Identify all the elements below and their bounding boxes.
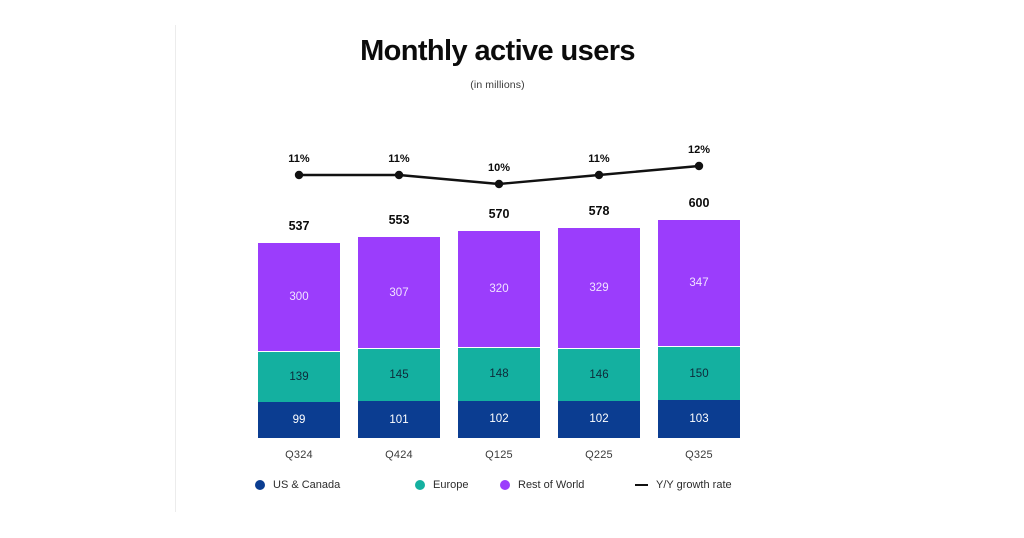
bar-segment-us-canada[interactable]: 103 <box>658 400 740 438</box>
growth-rate-point-q325[interactable] <box>695 162 703 170</box>
growth-rate-value-q325: 12% <box>688 144 710 156</box>
bar-segment-rest-of-world[interactable]: 307 <box>358 236 440 348</box>
growth-rate-value-q324: 11% <box>288 153 309 165</box>
growth-rate-point-q225[interactable] <box>595 171 603 179</box>
bar-segment-europe[interactable]: 139 <box>258 351 340 402</box>
bar-segment-europe[interactable]: 150 <box>658 346 740 401</box>
bar-stack: 102148320 <box>458 230 540 438</box>
legend-line-icon <box>635 484 648 486</box>
x-axis-label-q424: Q424 <box>358 449 440 461</box>
x-axis-label-q125: Q125 <box>458 449 540 461</box>
bar-segment-rest-of-world[interactable]: 300 <box>258 242 340 351</box>
bar-segment-rest-of-world[interactable]: 347 <box>658 219 740 346</box>
bar-segment-us-canada[interactable]: 102 <box>458 401 540 438</box>
x-axis-label-q325: Q325 <box>658 449 740 461</box>
legend-dot-icon <box>415 480 425 490</box>
slide-canvas: Monthly active users (in millions) 11%11… <box>0 0 1024 538</box>
growth-rate-point-q424[interactable] <box>395 171 403 179</box>
legend-label: Europe <box>433 479 468 491</box>
bar-stack: 103150347 <box>658 219 740 438</box>
growth-rate-value-q125: 10% <box>488 162 510 174</box>
x-axis-label-q225: Q225 <box>558 449 640 461</box>
bar-segment-us-canada[interactable]: 99 <box>258 402 340 438</box>
bar-segment-rest-of-world[interactable]: 320 <box>458 230 540 347</box>
bar-total-label: 553 <box>358 213 440 227</box>
bar-total-label: 537 <box>258 219 340 233</box>
bar-stack: 102146329 <box>558 227 640 438</box>
growth-rate-value-q424: 11% <box>388 153 409 165</box>
legend-item-rest-of-world[interactable]: Rest of World <box>500 479 584 491</box>
bar-total-label: 578 <box>558 204 640 218</box>
bar-segment-us-canada[interactable]: 102 <box>558 401 640 438</box>
bar-total-label: 570 <box>458 207 540 221</box>
bar-segment-europe[interactable]: 146 <box>558 348 640 401</box>
legend-item-us-canada[interactable]: US & Canada <box>255 479 340 491</box>
bar-segment-rest-of-world[interactable]: 329 <box>558 227 640 347</box>
growth-rate-point-q324[interactable] <box>295 171 303 179</box>
bar-total-label: 600 <box>658 196 740 210</box>
legend-item-europe[interactable]: Europe <box>415 479 468 491</box>
growth-rate-value-q225: 11% <box>588 153 609 165</box>
legend-label: US & Canada <box>273 479 340 491</box>
legend-label: Rest of World <box>518 479 584 491</box>
legend-dot-icon <box>255 480 265 490</box>
legend-item-y-y-growth-rate[interactable]: Y/Y growth rate <box>635 479 732 491</box>
bar-segment-europe[interactable]: 145 <box>358 348 440 401</box>
bar-stack: 101145307 <box>358 236 440 438</box>
x-axis-label-q324: Q324 <box>258 449 340 461</box>
legend-dot-icon <box>500 480 510 490</box>
growth-rate-point-q125[interactable] <box>495 180 503 188</box>
legend-label: Y/Y growth rate <box>656 479 732 491</box>
bar-stack: 99139300 <box>258 242 340 438</box>
bar-segment-europe[interactable]: 148 <box>458 347 540 401</box>
bar-segment-us-canada[interactable]: 101 <box>358 401 440 438</box>
